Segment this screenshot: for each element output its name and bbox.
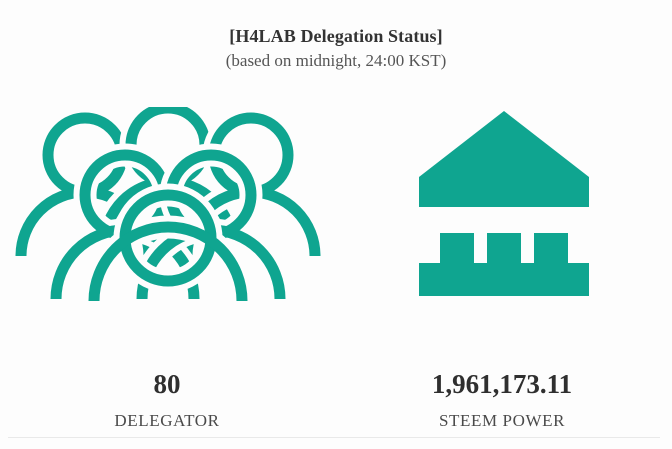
people-group-icon — [0, 96, 336, 311]
delegator-label: DELEGATOR — [0, 410, 335, 432]
delegation-status-card: [H4LAB Delegation Status] (based on midn… — [0, 0, 672, 449]
steem-power-value: 1,961,173.11 — [334, 368, 670, 400]
stats-row: 80 DELEGATOR 1 — [0, 96, 672, 436]
stat-delegator: 80 DELEGATOR — [0, 96, 336, 436]
page-subtitle: (based on midnight, 24:00 KST) — [0, 48, 672, 74]
steem-power-label: STEEM POWER — [334, 410, 670, 432]
bank-icon — [336, 96, 672, 311]
page-title: [H4LAB Delegation Status] — [0, 24, 672, 48]
bottom-divider — [8, 437, 660, 438]
delegator-value: 80 — [0, 368, 335, 400]
header: [H4LAB Delegation Status] (based on midn… — [0, 24, 672, 74]
stat-steem-power: 1,961,173.11 STEEM POWER — [336, 96, 672, 436]
